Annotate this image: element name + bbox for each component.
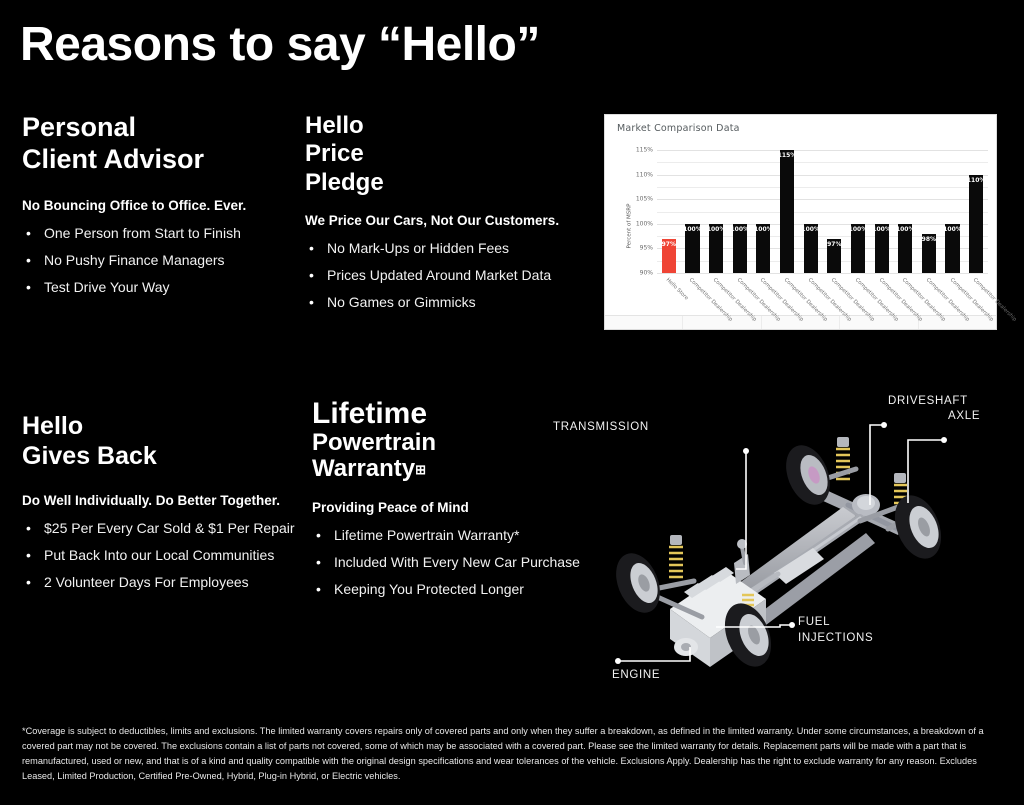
bar-column[interactable]: 97% [657,150,681,273]
x-tick: Competitor Dealership [893,275,917,323]
x-tick: Competitor Dealership [917,275,941,323]
leader-lines [618,425,944,661]
bullet-icon: • [316,554,321,570]
gridline [657,273,988,274]
bullet-icon: • [26,252,31,268]
bar-value-label: 100% [683,226,702,233]
bullet-list: •No Mark-Ups or Hidden Fees •Prices Upda… [305,240,580,310]
chart-bar[interactable]: 100% [945,224,959,273]
bar-value-label: 98% [922,236,936,243]
bar-value-label: 110% [967,177,986,184]
block-subheading: No Bouncing Office to Office. Ever. [22,198,292,213]
block-heading: Hello Gives Back [22,412,297,471]
chart-plot-region: Percent of MSRP 90%95%100%105%110%115% 9… [605,136,996,315]
chart-title: Market Comparison Data [605,115,996,136]
list-item-label: Included With Every New Car Purchase [334,554,580,570]
bar-column[interactable]: 115% [775,150,799,273]
chart-x-tick-labels: Hello StoreCompetitor DealershipCompetit… [657,275,988,323]
list-item-label: No Mark-Ups or Hidden Fees [327,240,509,256]
list-item-label: Lifetime Powertrain Warranty* [334,527,519,543]
block-heading: Personal Client Advisor [22,112,292,176]
chart-bar[interactable]: 100% [685,224,699,273]
list-item-label: $25 Per Every Car Sold & $1 Per Repair [44,520,295,536]
bar-value-label: 97% [662,241,676,248]
block-subheading: Providing Peace of Mind [312,500,597,515]
bullet-icon: • [309,240,314,256]
bar-column[interactable]: 100% [870,150,894,273]
bar-value-label: 100% [943,226,962,233]
label-fuel-injections-line-1: FUEL [798,616,830,628]
bullet-icon: • [316,527,321,543]
page-title: Reasons to say “Hello” [20,20,540,70]
disclaimer-text: *Coverage is subject to deductibles, lim… [22,724,1004,784]
bullet-list: •One Person from Start to Finish •No Pus… [22,225,292,295]
x-tick: Competitor Dealership [752,275,776,323]
label-fuel-injections-line-2: INJECTIONS [798,632,873,644]
list-item: •No Games or Gimmicks [305,294,580,310]
chart-bar[interactable]: 100% [898,224,912,273]
bar-column[interactable]: 100% [799,150,823,273]
list-item: •Included With Every New Car Purchase [312,554,597,570]
y-tick-label: 95% [640,245,653,252]
x-tick: Competitor Dealership [941,275,965,323]
block-heading: Hello Price Pledge [305,112,580,197]
x-tick: Competitor Dealership [799,275,823,323]
bar-value-label: 100% [872,226,891,233]
heading-line-1: Hello [22,412,297,442]
x-tick: Competitor Dealership [822,275,846,323]
bar-column[interactable]: 100% [681,150,705,273]
label-engine: ENGINE [612,669,660,681]
x-tick: Competitor Dealership [846,275,870,323]
chart-bar[interactable]: 100% [733,224,747,273]
y-tick-label: 105% [636,196,653,203]
x-tick: Competitor Dealership [681,275,705,323]
list-item: •$25 Per Every Car Sold & $1 Per Repair [22,520,297,536]
chart-bar[interactable]: 100% [756,224,770,273]
block-personal-client-advisor: Personal Client Advisor No Bouncing Offi… [22,112,292,306]
label-axle: AXLE [948,410,980,422]
bar-value-label: 100% [801,226,820,233]
trademark-mark-icon: ⊞ [415,462,425,477]
x-tick: Hello Store [657,275,681,323]
list-item: •One Person from Start to Finish [22,225,292,241]
bar-column[interactable]: 98% [917,150,941,273]
list-item: •No Pushy Finance Managers [22,252,292,268]
chart-bar[interactable]: 100% [875,224,889,273]
y-tick-label: 90% [640,270,653,277]
chart-plot-area: 90%95%100%105%110%115% 97%100%100%100%10… [657,150,988,273]
bullet-icon: • [309,294,314,310]
bar-value-label: 115% [778,152,797,159]
list-item-label: No Games or Gimmicks [327,294,476,310]
bullet-icon: • [309,267,314,283]
bullet-icon: • [26,279,31,295]
block-hello-gives-back: Hello Gives Back Do Well Individually. D… [22,412,297,601]
bar-value-label: 100% [849,226,868,233]
chart-bar[interactable]: 100% [804,224,818,273]
list-item-label: No Pushy Finance Managers [44,252,225,268]
block-subheading: Do Well Individually. Do Better Together… [22,493,297,508]
market-comparison-chart: Market Comparison Data Percent of MSRP 9… [604,114,997,330]
list-item: •No Mark-Ups or Hidden Fees [305,240,580,256]
label-transmission: TRANSMISSION [553,421,649,433]
bullet-icon: • [26,520,31,536]
bar-value-label: 97% [827,241,841,248]
bar-column[interactable]: 100% [728,150,752,273]
heading-line-1: Hello [305,112,580,140]
chart-bar[interactable]: 115% [780,150,794,273]
bar-value-label: 100% [754,226,773,233]
block-hello-price-pledge: Hello Price Pledge We Price Our Cars, No… [305,112,580,321]
chart-bar[interactable]: 97% [662,239,676,273]
list-item: •Put Back Into our Local Communities [22,547,297,563]
x-tick: Competitor Dealership [964,275,988,323]
heading-line-2: Client Advisor [22,144,292,176]
heading-line-2: Powertrain [312,430,597,456]
list-item-label: Test Drive Your Way [44,279,170,295]
block-subheading: We Price Our Cars, Not Our Customers. [305,213,580,228]
list-item: •Lifetime Powertrain Warranty* [312,527,597,543]
bar-column[interactable]: 100% [752,150,776,273]
list-item-label: Put Back Into our Local Communities [44,547,274,563]
bullet-icon: • [26,225,31,241]
heading-line-3: Warranty⊞ [312,456,597,482]
chart-bar[interactable]: 100% [709,224,723,273]
list-item-label: One Person from Start to Finish [44,225,241,241]
chart-bar[interactable]: 97% [827,239,841,273]
list-item-label: Prices Updated Around Market Data [327,267,551,283]
block-heading: Lifetime Powertrain Warranty⊞ [312,398,597,482]
x-tick: Competitor Dealership [775,275,799,323]
chart-bar[interactable]: 100% [851,224,865,273]
list-item: •Keeping You Protected Longer [312,581,597,597]
y-tick-label: 110% [636,171,653,178]
bar-value-label: 100% [730,226,749,233]
chart-bar[interactable]: 98% [922,234,936,273]
x-tick: Competitor Dealership [870,275,894,323]
list-item: •2 Volunteer Days For Employees [22,574,297,590]
chart-y-axis-label: Percent of MSRP [626,203,632,248]
car-chassis-diagram: DRIVESHAFT AXLE TRANSMISSION FUEL INJECT… [598,385,1018,680]
bullet-icon: • [26,574,31,590]
bar-column[interactable]: 97% [822,150,846,273]
bar-column[interactable]: 100% [846,150,870,273]
slide-root: Reasons to say “Hello” Personal Client A… [0,0,1024,805]
chart-bars: 97%100%100%100%100%115%100%97%100%100%10… [657,150,988,273]
list-item-label: Keeping You Protected Longer [334,581,524,597]
bar-column[interactable]: 100% [704,150,728,273]
list-item: •Prices Updated Around Market Data [305,267,580,283]
leader-dots [615,422,947,664]
heading-line-1: Personal [22,112,292,144]
x-tick: Competitor Dealership [728,275,752,323]
heading-line-3: Pledge [305,169,580,197]
chart-bar[interactable]: 110% [969,175,983,273]
heading-line-2: Price [305,140,580,168]
list-item-label: 2 Volunteer Days For Employees [44,574,249,590]
x-tick: Competitor Dealership [704,275,728,323]
bar-column[interactable]: 100% [893,150,917,273]
label-driveshaft: DRIVESHAFT [888,395,968,407]
wheel-front-left [608,547,668,619]
y-tick-label: 115% [636,147,653,154]
heading-line-2: Gives Back [22,442,297,472]
bar-column[interactable]: 100% [941,150,965,273]
bullet-icon: • [316,581,321,597]
heading-line-3-text: Warranty [312,455,415,482]
list-item: •Test Drive Your Way [22,279,292,295]
bullet-list: •$25 Per Every Car Sold & $1 Per Repair … [22,520,297,590]
bullet-list: •Lifetime Powertrain Warranty* •Included… [312,527,597,597]
bar-column[interactable]: 110% [964,150,988,273]
bar-value-label: 100% [896,226,915,233]
bar-value-label: 100% [707,226,726,233]
control-arms [644,469,916,617]
y-tick-label: 100% [636,220,653,227]
bullet-icon: • [26,547,31,563]
